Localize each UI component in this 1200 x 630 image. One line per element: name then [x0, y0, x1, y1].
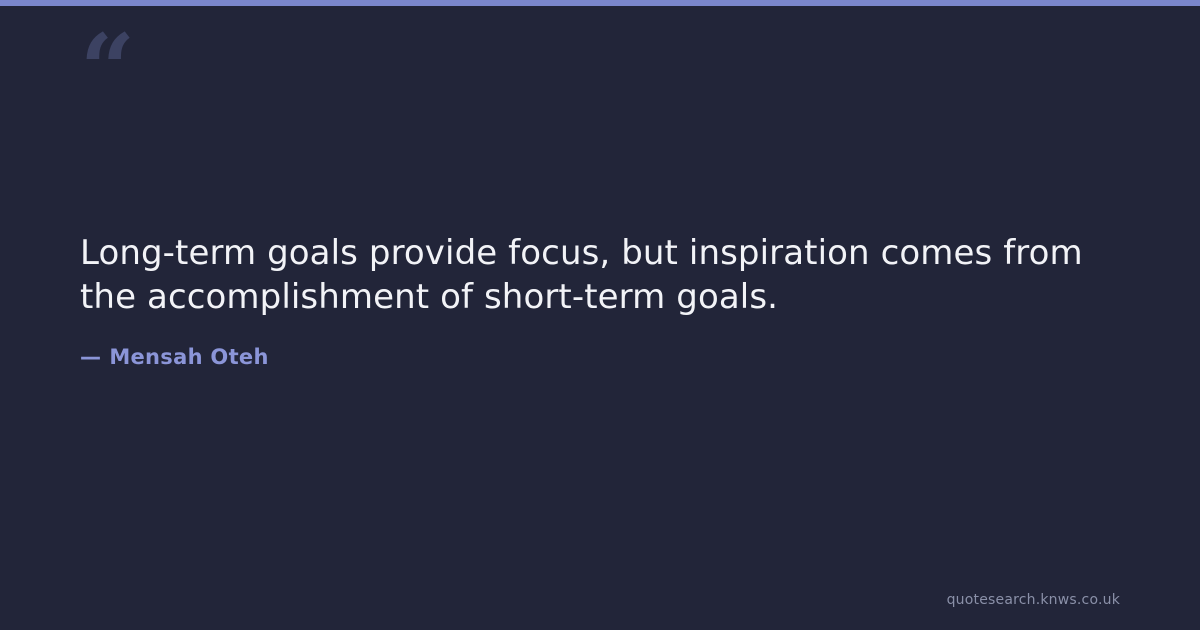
author-name: Mensah Oteh	[109, 345, 268, 369]
quote-text: Long-term goals provide focus, but inspi…	[80, 232, 1090, 319]
site-url-label: quotesearch.knws.co.uk	[947, 592, 1120, 608]
quote-content: Long-term goals provide focus, but inspi…	[80, 232, 1090, 369]
top-accent-bar	[0, 0, 1200, 6]
quotation-mark-icon: “	[80, 22, 133, 118]
em-dash: —	[80, 345, 101, 369]
quote-card: “ Long-term goals provide focus, but ins…	[0, 0, 1200, 630]
quote-attribution: —Mensah Oteh	[80, 319, 1090, 369]
